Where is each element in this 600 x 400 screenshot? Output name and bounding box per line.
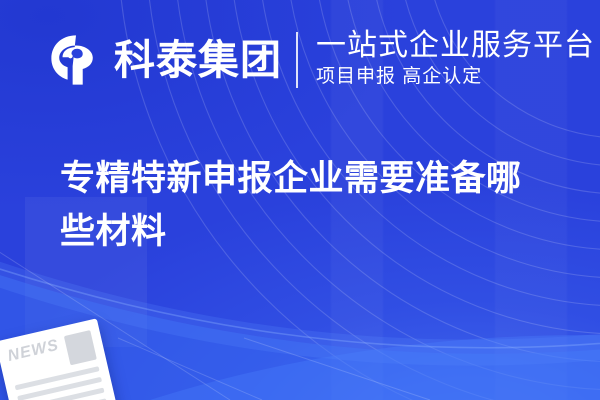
news-text-lines xyxy=(13,359,109,400)
header-divider xyxy=(296,32,298,88)
news-thumbnail-block xyxy=(64,330,97,365)
ketai-circle-logo-icon xyxy=(48,32,104,88)
tagline-sub: 项目申报 高企认定 xyxy=(316,64,595,90)
promo-banner: 科泰集团 一站式企业服务平台 项目申报 高企认定 专精特新申报企业需要准备哪些材… xyxy=(0,0,600,400)
tagline-main: 一站式企业服务平台 xyxy=(316,30,595,62)
tagline-group: 一站式企业服务平台 项目申报 高企认定 xyxy=(316,30,595,90)
news-masthead: NEWS xyxy=(6,338,60,365)
page-title: 专精特新申报企业需要准备哪些材料 xyxy=(60,152,552,258)
brand-name: 科泰集团 xyxy=(114,40,282,81)
brand-header: 科泰集团 一站式企业服务平台 项目申报 高企认定 xyxy=(48,28,595,92)
